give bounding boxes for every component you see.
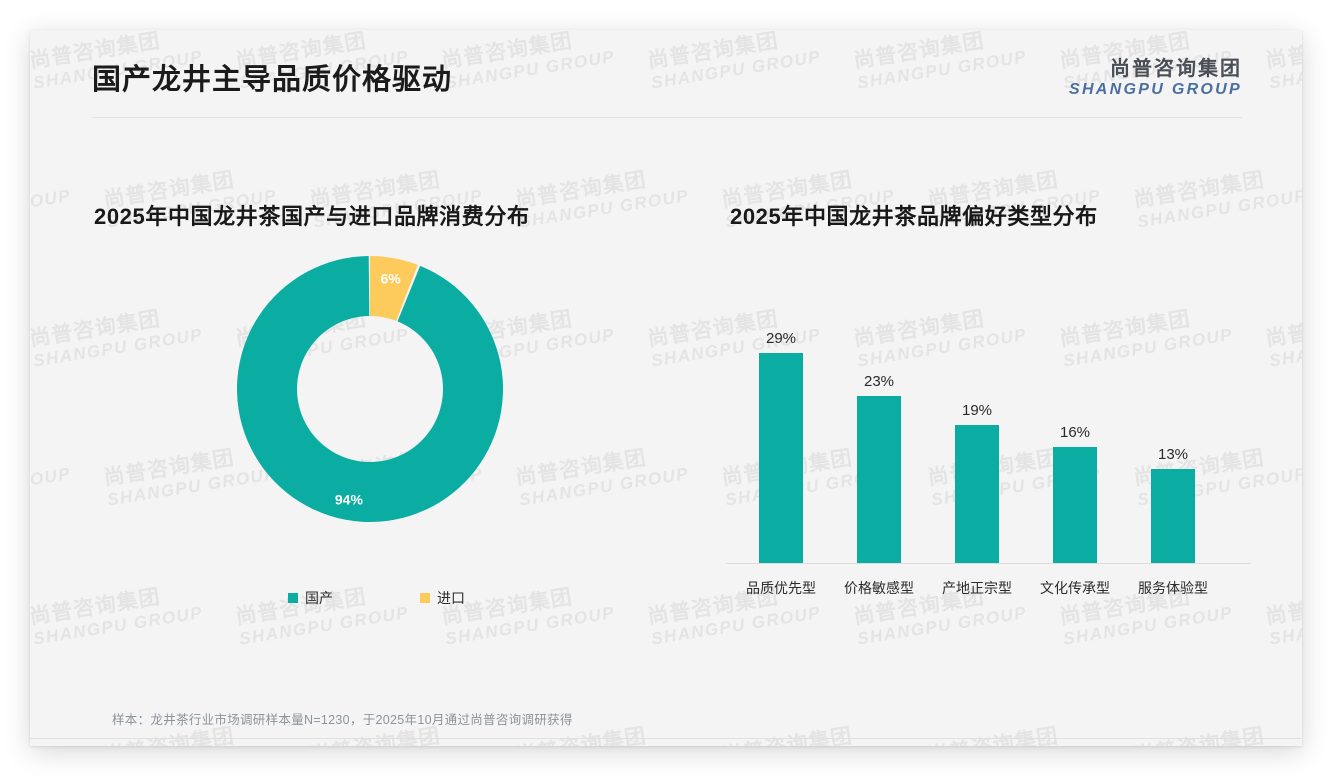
bar-category-label: 服务体验型 <box>1118 578 1228 598</box>
bar-rect[interactable] <box>1151 469 1195 563</box>
bar-rect[interactable] <box>857 396 901 563</box>
legend-label-import: 进口 <box>437 588 465 608</box>
bar-chart-axis-line <box>726 563 1251 564</box>
bar-column[interactable] <box>830 396 928 563</box>
donut-slice-label: 94% <box>335 492 364 508</box>
bar-category-label: 价格敏感型 <box>824 578 934 598</box>
bar-chart: 29%23%19%16%13% <box>698 292 1258 564</box>
bar-column[interactable] <box>1124 469 1222 563</box>
bar-rect[interactable] <box>955 425 999 563</box>
bar-chart-category-labels: 品质优先型价格敏感型产地正宗型文化传承型服务体验型 <box>698 578 1258 602</box>
bar-value-label: 16% <box>1026 424 1124 441</box>
brand-logo: 尚普咨询集团 SHANGPU GROUP <box>1069 58 1242 99</box>
donut-chart-title: 2025年中国龙井茶国产与进口品牌消费分布 <box>94 199 530 231</box>
header-divider <box>92 117 1242 118</box>
legend-label-domestic: 国产 <box>305 588 333 608</box>
source-footnote: 样本：龙井茶行业市场调研样本量N=1230，于2025年10月通过尚普咨询调研获… <box>112 709 573 728</box>
bar-value-label: 23% <box>830 373 928 390</box>
legend-swatch-domestic <box>288 593 298 603</box>
bar-column[interactable] <box>928 425 1026 563</box>
donut-chart-legend: 国产 进口 <box>235 588 535 616</box>
bar-value-label: 13% <box>1124 446 1222 463</box>
donut-chart-svg: 94%6% <box>235 254 505 524</box>
legend-swatch-import <box>420 593 430 603</box>
bar-chart-title: 2025年中国龙井茶品牌偏好类型分布 <box>730 199 1098 231</box>
brand-logo-en: SHANGPU GROUP <box>1069 81 1242 99</box>
bar-value-label: 19% <box>928 402 1026 419</box>
donut-chart: 94%6% <box>235 254 505 524</box>
bar-rect[interactable] <box>1053 447 1097 563</box>
bar-category-label: 产地正宗型 <box>922 578 1032 598</box>
charts-container: 2025年中国龙井茶国产与进口品牌消费分布 94%6% 国产 进口 2025年中… <box>30 30 1302 746</box>
brand-logo-cn: 尚普咨询集团 <box>1069 58 1242 81</box>
slide-header: 国产龙井主导品质价格驱动 尚普咨询集团 SHANGPU GROUP <box>30 30 1302 120</box>
legend-item-import[interactable]: 进口 <box>420 588 465 608</box>
legend-item-domestic[interactable]: 国产 <box>288 588 333 608</box>
slide-card: 尚普咨询集团SHANGPU GROUP尚普咨询集团SHANGPU GROUP尚普… <box>30 30 1302 746</box>
page-title: 国产龙井主导品质价格驱动 <box>92 56 452 98</box>
bar-column[interactable] <box>1026 447 1124 563</box>
bar-category-label: 品质优先型 <box>726 578 836 598</box>
slide-footer: ©2025.12 SHANGPU GROUP www.shangpu-china… <box>30 739 1302 746</box>
bar-value-label: 29% <box>732 330 830 347</box>
donut-slice-label: 6% <box>380 270 401 286</box>
bar-column[interactable] <box>732 353 830 563</box>
bar-category-label: 文化传承型 <box>1020 578 1130 598</box>
bar-rect[interactable] <box>759 353 803 563</box>
